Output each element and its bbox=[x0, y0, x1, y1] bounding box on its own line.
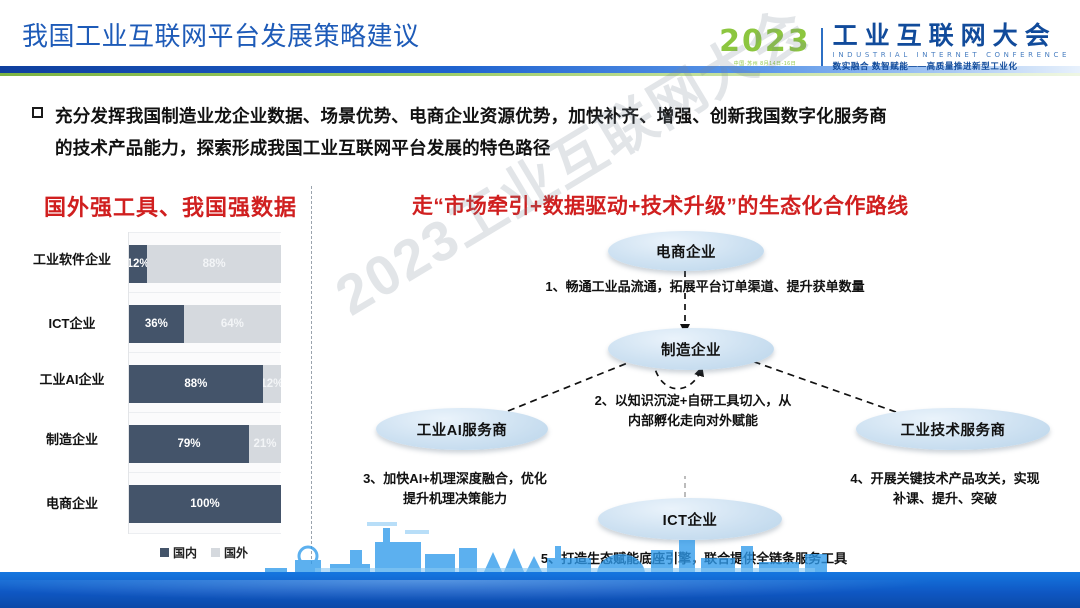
note-2-line-2: 内部孵化走向对外赋能 bbox=[558, 412, 828, 431]
chart-category-label: 工业AI企业 bbox=[26, 372, 118, 388]
bar-segment-foreign: 64% bbox=[184, 305, 281, 343]
title-rule-green bbox=[0, 73, 1080, 76]
page-title: 我国工业互联网平台发展策略建议 bbox=[22, 16, 420, 53]
grid-line bbox=[129, 232, 281, 233]
bullet-block: 充分发挥我国制造业龙企业数据、场景优势、电商企业资源优势，加快补齐、增强、创新我… bbox=[32, 100, 1052, 165]
bar-segment-domestic: 79% bbox=[129, 425, 249, 463]
stacked-bar-chart: 12% 88% 36% 64% 88% 12% 79% 21% 100% bbox=[20, 232, 302, 566]
node-manufacturing[interactable]: 制造企业 bbox=[608, 328, 774, 370]
note-3-line-1: 3、加快AI+机理深度融合，优化 bbox=[320, 470, 590, 489]
bar-segment-domestic: 36% bbox=[129, 305, 184, 343]
bar-segment-foreign: 88% bbox=[147, 245, 281, 283]
grid-line bbox=[129, 472, 281, 473]
note-2-line-1: 2、以知识沉淀+自研工具切入，从 bbox=[558, 392, 828, 411]
logo-name-cn: 工业互联网大会 bbox=[833, 24, 1070, 49]
table-row: 79% 21% bbox=[129, 425, 281, 463]
legend-swatch-icon bbox=[211, 548, 220, 557]
grid-line bbox=[129, 352, 281, 353]
grid-line bbox=[129, 292, 281, 293]
bullet-line-2: 的技术产品能力，探索形成我国工业互联网平台发展的特色路径 bbox=[55, 132, 887, 164]
logo-year: 2023 bbox=[719, 27, 811, 57]
logo-divider bbox=[821, 28, 823, 66]
table-row: 36% 64% bbox=[129, 305, 281, 343]
square-bullet-icon bbox=[32, 107, 43, 118]
chart-category-label: 工业软件企业 bbox=[26, 252, 118, 268]
note-1: 1、畅通工业品流通，拓展平台订单渠道、提升获单数量 bbox=[480, 278, 930, 297]
left-section-heading: 国外强工具、我国强数据 bbox=[44, 190, 297, 222]
grid-line bbox=[129, 412, 281, 413]
column-divider bbox=[311, 186, 312, 564]
legend-item-domestic: 国内 bbox=[160, 544, 197, 561]
table-row: 88% 12% bbox=[129, 365, 281, 403]
node-ecommerce[interactable]: 电商企业 bbox=[608, 231, 764, 271]
bar-segment-foreign: 21% bbox=[249, 425, 281, 463]
bar-segment-domestic: 12% bbox=[129, 245, 147, 283]
bullet-line-1: 充分发挥我国制造业龙企业数据、场景优势、电商企业资源优势，加快补齐、增强、创新我… bbox=[55, 100, 887, 132]
right-section-heading: 走“市场牵引+数据驱动+技术升级”的生态化合作路线 bbox=[412, 190, 909, 220]
note-3-line-2: 提升机理决策能力 bbox=[320, 490, 590, 509]
logo-slogan: 数实融合 数智赋能——高质量推进新型工业化 bbox=[833, 62, 1070, 71]
logo-year-block: 2023 中国·苏州 8月14日-16日 bbox=[719, 27, 811, 67]
legend-swatch-icon bbox=[160, 548, 169, 557]
table-row: 100% bbox=[129, 485, 281, 523]
bar-segment-foreign: 12% bbox=[263, 365, 281, 403]
legend-label: 国内 bbox=[173, 544, 197, 561]
chart-category-label: 电商企业 bbox=[26, 496, 118, 512]
bar-segment-domestic: 88% bbox=[129, 365, 263, 403]
chart-category-label: ICT企业 bbox=[26, 316, 118, 332]
node-ai-provider[interactable]: 工业AI服务商 bbox=[376, 408, 548, 450]
bullet-text-group: 充分发挥我国制造业龙企业数据、场景优势、电商企业资源优势，加快补齐、增强、创新我… bbox=[55, 100, 887, 165]
legend-item-foreign: 国外 bbox=[211, 544, 248, 561]
logo-year-subtitle: 中国·苏州 8月14日-16日 bbox=[719, 60, 811, 67]
logo-name-block: 工业互联网大会 INDUSTRIAL INTERNET CONFERENCE 数… bbox=[833, 24, 1070, 71]
note-4-line-2: 补课、提升、突破 bbox=[814, 490, 1076, 509]
logo-name-en: INDUSTRIAL INTERNET CONFERENCE bbox=[833, 52, 1070, 59]
slide-root: 我国工业互联网平台发展策略建议 2023 中国·苏州 8月14日-16日 工业互… bbox=[0, 0, 1080, 608]
table-row: 12% 88% bbox=[129, 245, 281, 283]
skyline-illustration bbox=[255, 520, 835, 574]
conference-logo: 2023 中国·苏州 8月14日-16日 工业互联网大会 INDUSTRIAL … bbox=[719, 24, 1070, 71]
node-tech-provider[interactable]: 工业技术服务商 bbox=[856, 408, 1050, 450]
chart-plot-area: 12% 88% 36% 64% 88% 12% 79% 21% 100% bbox=[128, 232, 280, 534]
note-4-line-1: 4、开展关键技术产品攻关，实现 bbox=[814, 470, 1076, 489]
legend-label: 国外 bbox=[224, 544, 248, 561]
bar-segment-domestic: 100% bbox=[129, 485, 281, 523]
footer-band bbox=[0, 572, 1080, 608]
ecosystem-diagram: 电商企业 制造企业 工业AI服务商 工业技术服务商 ICT企业 1、畅通工业品流… bbox=[320, 226, 1080, 566]
chart-category-label: 制造企业 bbox=[26, 432, 118, 448]
